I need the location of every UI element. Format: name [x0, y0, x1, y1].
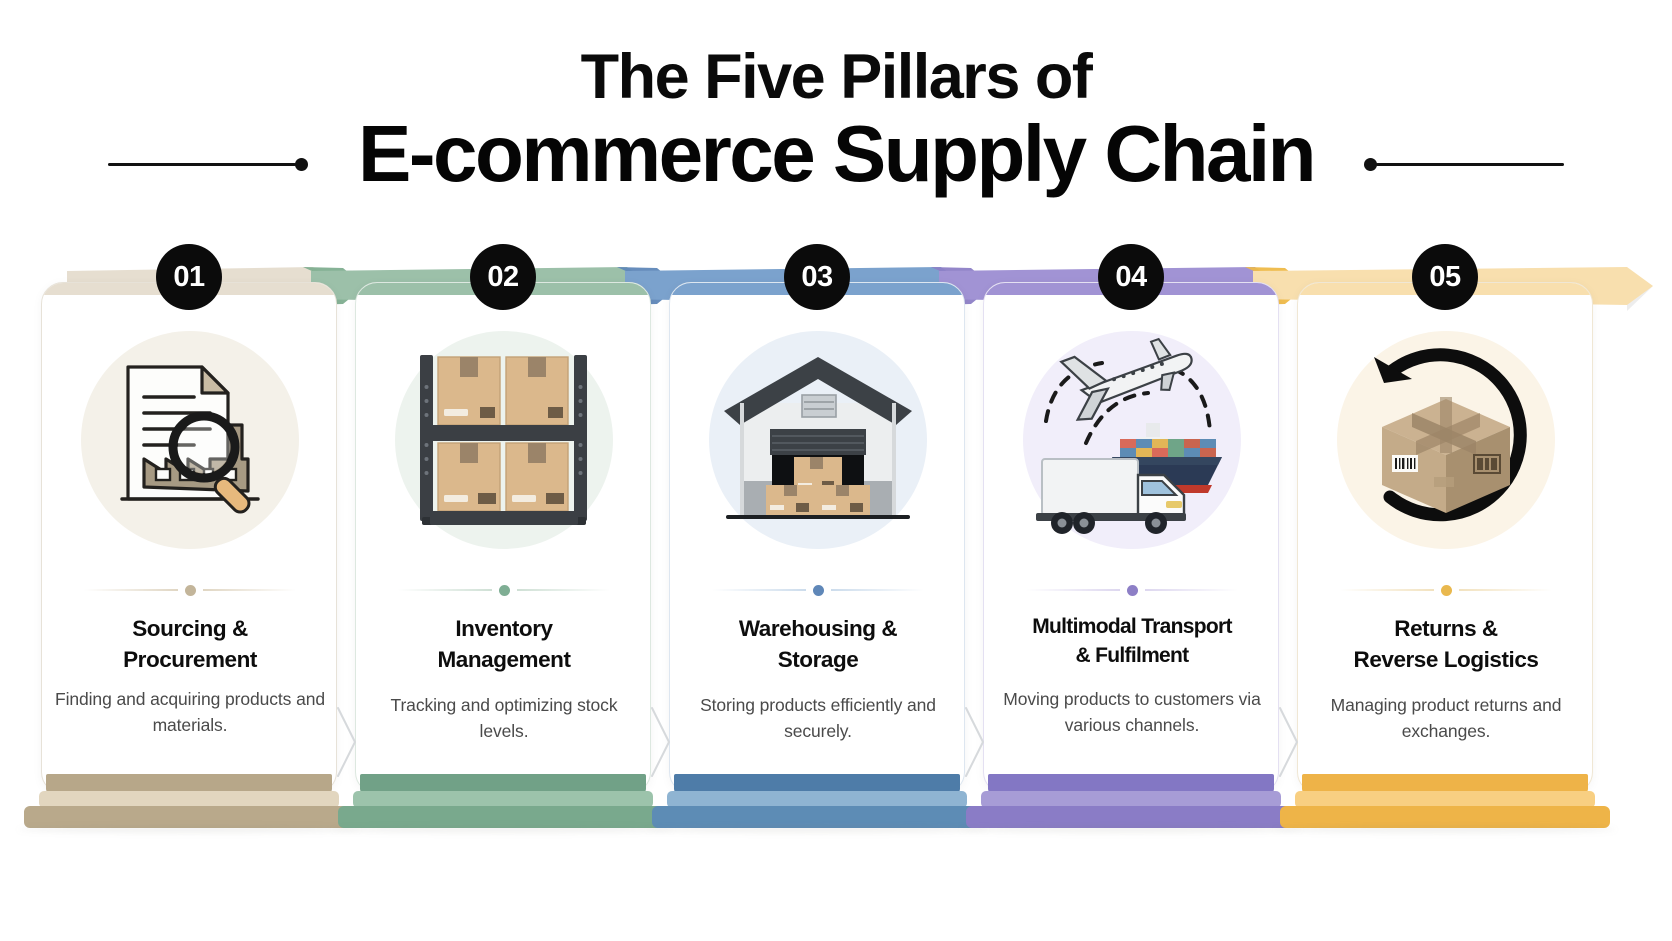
- title-decoration-left: [108, 157, 308, 171]
- pedestal-shadow: [1274, 826, 1616, 833]
- pedestal-shadow: [960, 826, 1302, 833]
- card-body: Sourcing & Procurement Finding and acqui…: [41, 282, 337, 794]
- divider-dot: [185, 585, 196, 596]
- card-title: Returns & Reverse Logistics: [1312, 613, 1580, 675]
- divider-line-right: [517, 589, 611, 591]
- pillar-card-03[interactable]: Warehousing & Storage Storing products e…: [669, 272, 965, 832]
- card-divider: [1026, 583, 1238, 597]
- card-icon-zone: [984, 323, 1279, 555]
- step-number-badge-04: 04: [1098, 244, 1164, 310]
- card-title: Warehousing & Storage: [684, 613, 952, 675]
- card-title: Sourcing & Procurement: [56, 613, 324, 675]
- header: The Five Pillars of E-commerce Supply Ch…: [0, 0, 1672, 215]
- step-number-badge-02: 02: [470, 244, 536, 310]
- card-icon-zone: [42, 323, 337, 555]
- divider-dot: [1127, 585, 1138, 596]
- decoration-dot-left: [295, 158, 308, 171]
- card-description: Finding and acquiring products and mater…: [52, 687, 328, 739]
- card-title-line2: Management: [437, 647, 570, 672]
- card-title: Multimodal Transport & Fulfilment: [998, 613, 1266, 671]
- card-body: Multimodal Transport & Fulfilment Moving…: [983, 282, 1279, 794]
- divider-dot: [499, 585, 510, 596]
- card-divider: [398, 583, 610, 597]
- pedestal-shadow: [646, 826, 988, 833]
- card-title-line1: Multimodal Transport: [1032, 615, 1232, 638]
- pillar-card-02[interactable]: Inventory Management Tracking and optimi…: [355, 272, 651, 832]
- step-number-label: 05: [1429, 261, 1460, 294]
- card-divider: [84, 583, 296, 597]
- page-title-line2: E-commerce Supply Chain: [0, 114, 1672, 194]
- divider-line-right: [1459, 589, 1553, 591]
- step-number-label: 04: [1115, 261, 1146, 294]
- connector-chevron-right-icon: [957, 692, 991, 792]
- card-body: Returns & Reverse Logistics Managing pro…: [1297, 282, 1593, 794]
- warehouse-racking-boxes-icon: [396, 335, 612, 545]
- card-pedestal: [41, 774, 337, 832]
- pillar-card-04[interactable]: Multimodal Transport & Fulfilment Moving…: [983, 272, 1279, 832]
- step-number-badge-05: 05: [1412, 244, 1478, 310]
- card-description: Tracking and optimizing stock levels.: [366, 693, 642, 745]
- pillar-cards-row: Sourcing & Procurement Finding and acqui…: [0, 272, 1672, 832]
- card-divider: [1340, 583, 1552, 597]
- card-title: Inventory Management: [370, 613, 638, 675]
- card-pedestal: [669, 774, 965, 832]
- step-number-label: 01: [173, 261, 204, 294]
- card-icon-zone: [356, 323, 651, 555]
- step-number-badge-01: 01: [156, 244, 222, 310]
- return-box-arrow-icon: [1338, 335, 1554, 545]
- title-decoration-right: [1364, 157, 1564, 171]
- pillar-card-05[interactable]: Returns & Reverse Logistics Managing pro…: [1297, 272, 1593, 832]
- decoration-rule-right: [1376, 163, 1564, 166]
- decoration-rule-left: [108, 163, 296, 166]
- card-icon-zone: [1298, 323, 1593, 555]
- card-title-line2: Storage: [778, 647, 859, 672]
- divider-line-right: [1145, 589, 1239, 591]
- card-title-line1: Warehousing &: [739, 616, 897, 641]
- pedestal-tier-bottom: [1280, 806, 1610, 828]
- warehouse-building-icon: [710, 335, 926, 545]
- divider-line-left: [84, 589, 178, 591]
- card-description: Managing product returns and exchanges.: [1308, 693, 1584, 745]
- pedestal-tier-bottom: [338, 806, 668, 828]
- card-description: Moving products to customers via various…: [994, 687, 1270, 739]
- divider-line-right: [831, 589, 925, 591]
- card-title-line1: Returns &: [1394, 616, 1497, 641]
- connector-chevron-right-icon: [1271, 692, 1305, 792]
- card-title-line2: & Fulfilment: [1076, 644, 1189, 667]
- card-pedestal: [355, 774, 651, 832]
- card-description: Storing products efficiently and securel…: [680, 693, 956, 745]
- pedestal-shadow: [18, 826, 360, 833]
- divider-line-right: [203, 589, 297, 591]
- card-body: Warehousing & Storage Storing products e…: [669, 282, 965, 794]
- step-number-label: 02: [487, 261, 518, 294]
- pedestal-tier-bottom: [24, 806, 354, 828]
- connector-chevron-right-icon: [643, 692, 677, 792]
- pedestal-tier-bottom: [966, 806, 1296, 828]
- step-number-badge-03: 03: [784, 244, 850, 310]
- document-magnifier-factory-icon: [82, 335, 298, 545]
- pedestal-tier-bottom: [652, 806, 982, 828]
- card-title-line1: Sourcing &: [132, 616, 248, 641]
- card-title-line2: Procurement: [123, 647, 257, 672]
- card-pedestal: [983, 774, 1279, 832]
- pillar-card-01[interactable]: Sourcing & Procurement Finding and acqui…: [41, 272, 337, 832]
- card-icon-zone: [670, 323, 965, 555]
- card-body: Inventory Management Tracking and optimi…: [355, 282, 651, 794]
- card-divider: [712, 583, 924, 597]
- pedestal-shadow: [332, 826, 674, 833]
- divider-dot: [813, 585, 824, 596]
- plane-ship-truck-icon: [1024, 335, 1240, 545]
- card-title-line2: Reverse Logistics: [1354, 647, 1539, 672]
- divider-line-left: [712, 589, 806, 591]
- card-title-line1: Inventory: [455, 616, 552, 641]
- divider-line-left: [1340, 589, 1434, 591]
- page-title-line1: The Five Pillars of: [0, 46, 1672, 109]
- divider-dot: [1441, 585, 1452, 596]
- connector-chevron-right-icon: [329, 692, 363, 792]
- divider-line-left: [398, 589, 492, 591]
- step-number-label: 03: [801, 261, 832, 294]
- card-pedestal: [1297, 774, 1593, 832]
- divider-line-left: [1026, 589, 1120, 591]
